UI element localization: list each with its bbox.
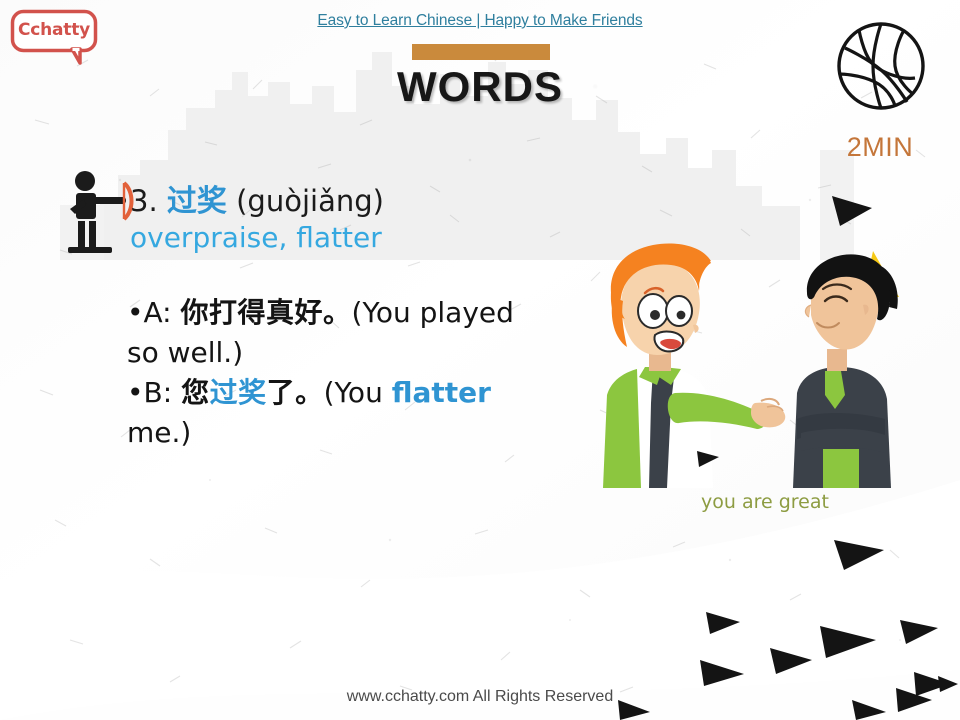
- dialogue-line-b: •B: 您过奖了。(You flatter me.): [127, 373, 519, 453]
- archer-pictogram-icon: [58, 167, 140, 259]
- dialogue-b-english-post: me.): [127, 416, 191, 449]
- word-hanzi: 过奖: [167, 184, 227, 219]
- word-number: 3.: [130, 184, 158, 218]
- bullet-b: •: [127, 376, 144, 409]
- dialogue-b-chinese-highlight: 过奖: [210, 376, 267, 409]
- dialogue-b-chinese-post: 了。: [267, 376, 324, 409]
- black-haired-man: [793, 254, 898, 488]
- dialogue-a-chinese: 你打得真好。: [181, 296, 352, 329]
- dialogue-b-english-highlight: flatter: [392, 376, 491, 409]
- bullet-a: •: [127, 296, 144, 329]
- dialogue-line-a: •A: 你打得真好。(You played so well.): [127, 293, 519, 373]
- word-entry-line: 3. 过奖 (guòjiǎng): [130, 176, 384, 220]
- speaker-a: A:: [144, 296, 172, 329]
- dialogue-b-english-pre: (You: [324, 376, 392, 409]
- word-pinyin: (guòjiǎng): [236, 184, 384, 218]
- speaker-b: B:: [144, 376, 173, 409]
- footer-text: www.cchatty.com All Rights Reserved: [0, 688, 960, 706]
- lesson-illustration: [601, 243, 929, 488]
- timer-label: 2MIN: [815, 132, 945, 163]
- page-title: WORDS: [0, 63, 960, 111]
- illustration-caption: you are great: [601, 491, 929, 513]
- orange-haired-boy: [603, 244, 785, 488]
- title-accent-bar: [412, 44, 550, 60]
- dialogue-block: •A: 你打得真好。(You played so well.) •B: 您过奖了…: [127, 293, 519, 453]
- dialogue-b-chinese-pre: 您: [181, 376, 210, 409]
- slide-canvas: Cchatty Easy to Learn Chinese | Happy to…: [0, 0, 960, 720]
- slide-subtitle[interactable]: Easy to Learn Chinese | Happy to Make Fr…: [0, 12, 960, 30]
- word-meaning: overpraise, flatter: [130, 221, 382, 254]
- basketball-icon: [833, 18, 929, 114]
